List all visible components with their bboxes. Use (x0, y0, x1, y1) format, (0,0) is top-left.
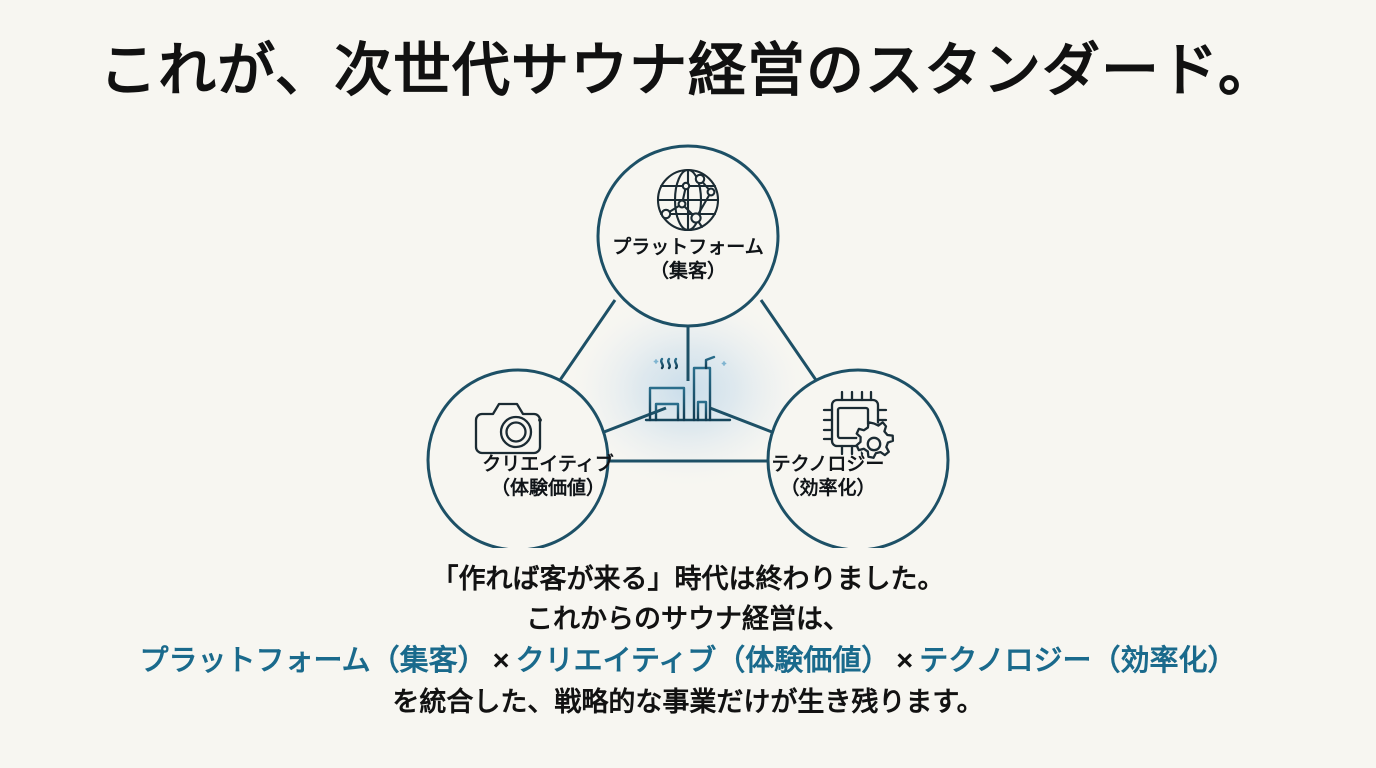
diagram-svg (408, 128, 968, 548)
bottom-copy-line-1: 「作れば客が来る」時代は終わりました。 (0, 560, 1376, 600)
page-title: これが、次世代サウナ経営のスタンダード。 (0, 38, 1376, 105)
node-circle-technology[interactable] (768, 370, 948, 548)
bottom-copy: 「作れば客が来る」時代は終わりました。 これからのサウナ経営は、 プラットフォー… (0, 560, 1376, 723)
highlight-creative: クリエイティブ（体験価値） (516, 645, 891, 677)
node-circle-creative[interactable] (428, 370, 608, 548)
highlight-platform: プラットフォーム（集客） (140, 645, 487, 677)
bottom-copy-line-3: プラットフォーム（集客）×クリエイティブ（体験価値）×テクノロジー（効率化） (0, 640, 1376, 683)
bottom-copy-line-2: これからのサウナ経営は、 (0, 600, 1376, 640)
slide-canvas: これが、次世代サウナ経営のスタンダード。 (0, 0, 1376, 768)
globe-network-icon (658, 170, 718, 230)
concept-diagram: プラットフォーム （集客） クリエイティブ （体験価値） テクノロジー （効率化… (408, 128, 968, 548)
highlight-technology: テクノロジー（効率化） (919, 645, 1236, 677)
multiply-sign-1: × (487, 645, 516, 677)
multiply-sign-2: × (890, 645, 919, 677)
bottom-copy-line-4: を統合した、戦略的な事業だけが生き残ります。 (0, 683, 1376, 723)
